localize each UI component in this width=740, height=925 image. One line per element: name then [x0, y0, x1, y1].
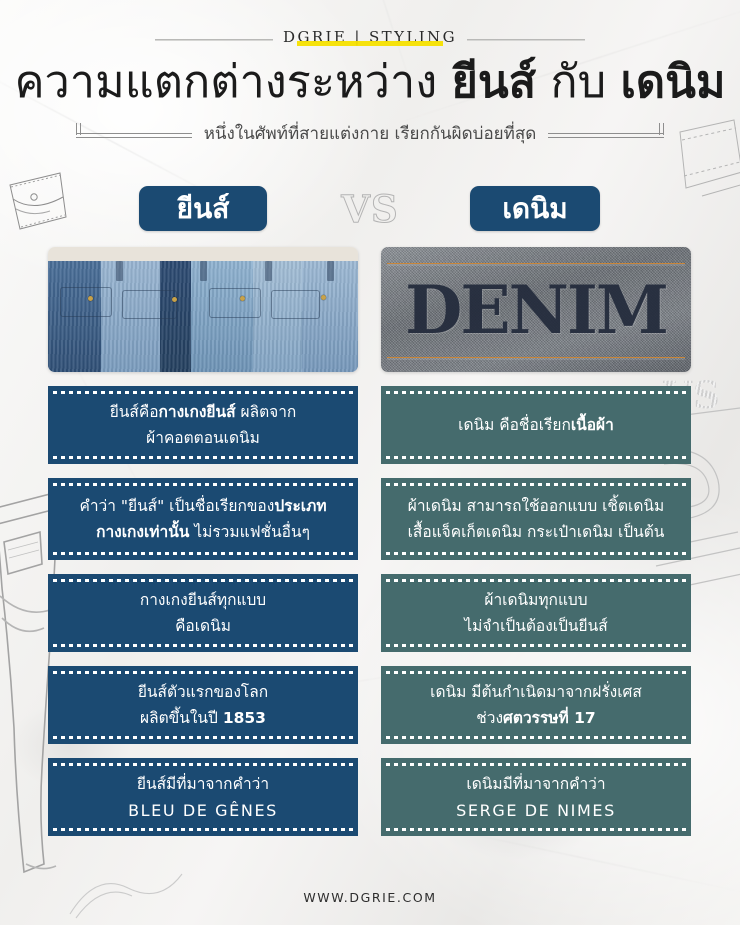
fact-card: เดนิม คือชื่อเรียกเนื้อผ้า — [381, 386, 691, 464]
fact-card: ผ้าเดนิมทุกแบบไม่จำเป็นต้องเป็นยีนส์ — [381, 574, 691, 652]
fact-card: ยีนส์คือกางเกงยีนส์ ผลิตจากผ้าคอตตอนเดนิ… — [48, 386, 358, 464]
fact-card: กางเกงยีนส์ทุกแบบคือเดนิม — [48, 574, 358, 652]
fact-text-part: ยีนส์มีที่มาจากคำว่า — [137, 775, 269, 793]
fact-text-emphasis: เนื้อผ้า — [571, 416, 614, 434]
fact-card: เดนิม มีต้นกำเนิดมาจากฝรั่งเศสช่วงศตวรรษ… — [381, 666, 691, 744]
versus-label-outline: VS — [322, 186, 418, 231]
denim-label-photo: DENIM — [381, 247, 691, 372]
fact-text-part: ช่วง — [476, 709, 503, 727]
subtitle: หนึ่งในศัพท์ที่สายแต่งกาย เรียกกันผิดบ่อ… — [192, 120, 549, 147]
fact-text-part: เดนิมมีที่มาจากคำว่า — [466, 775, 605, 793]
fact-card-text: กางเกงยีนส์ทุกแบบคือเดนิม — [140, 587, 266, 639]
fact-text-emphasis: กางเกงยีนส์ — [159, 403, 236, 421]
bracket-left — [76, 125, 192, 143]
title-prefix: ความแตกต่างระหว่าง — [14, 55, 451, 108]
fact-text-emphasis: กางเกงเท่านั้น — [96, 523, 189, 541]
fact-card-text: เดนิม มีต้นกำเนิดมาจากฝรั่งเศสช่วงศตวรรษ… — [430, 679, 642, 731]
fact-text-latin: SERGE DE NIMES — [456, 801, 616, 820]
marble-vein — [433, 826, 740, 896]
fact-card-text: เดนิมมีที่มาจากคำว่าSERGE DE NIMES — [456, 771, 616, 824]
fact-card-text: ยีนส์มีที่มาจากคำว่าBLEU DE GÊNES — [128, 771, 278, 824]
fact-card: ยีนส์มีที่มาจากคำว่าBLEU DE GÊNES — [48, 758, 358, 836]
fact-card: ผ้าเดนิม สามารถใช้ออกแบบ เชิ้ตเดนิมเสื้อ… — [381, 478, 691, 560]
denim-column: DENIM เดนิม คือชื่อเรียกเนื้อผ้า ผ้าเดนิ… — [381, 247, 691, 836]
fact-text-emphasis: ศตวรรษที่ 17 — [503, 709, 596, 727]
versus-badge: VS VS — [322, 186, 418, 231]
jeans-photo-art — [48, 247, 358, 372]
denim-label-text: DENIM — [381, 247, 691, 372]
fact-card: เดนิมมีที่มาจากคำว่าSERGE DE NIMES — [381, 758, 691, 836]
infographic-page: DGRIE | STYLING ความแตกต่างระหว่าง ยีนส์… — [0, 0, 740, 925]
fact-text-part: ผลิตขึ้นในปี — [140, 709, 223, 727]
fact-card-text: เดนิม คือชื่อเรียกเนื้อผ้า — [458, 412, 614, 438]
brand-rule-left — [155, 39, 273, 41]
fact-text-year: 1853 — [223, 709, 266, 727]
bracket-right — [548, 125, 664, 143]
fact-card-text: ผ้าเดนิมทุกแบบไม่จำเป็นต้องเป็นยีนส์ — [464, 587, 607, 639]
brand-rule-right — [467, 39, 585, 41]
fact-text-latin: BLEU DE GÊNES — [128, 801, 278, 820]
fact-text-part: ยีนส์คือ — [110, 403, 159, 421]
subtitle-row: หนึ่งในศัพท์ที่สายแต่งกาย เรียกกันผิดบ่อ… — [0, 120, 740, 147]
fact-text-part: ผลิตจาก — [236, 403, 297, 421]
fact-card: คำว่า "ยีนส์" เป็นชื่อเรียกของประเภทกางเ… — [48, 478, 358, 560]
fact-text-emphasis: ประเภท — [274, 497, 326, 515]
title-middle: กับ — [536, 55, 620, 108]
fact-text-line2: ผ้าคอตตอนเดนิม — [146, 429, 260, 447]
column-header-denim: เดนิม — [470, 186, 600, 231]
fact-text-part: ยีนส์ตัวแรกของโลก — [138, 683, 268, 701]
jeans-column: ยีนส์คือกางเกงยีนส์ ผลิตจากผ้าคอตตอนเดนิ… — [48, 247, 358, 836]
fact-text-part: คำว่า "ยีนส์" เป็นชื่อเรียกของ — [79, 497, 274, 515]
title-word-jeans: ยีนส์ — [452, 55, 537, 108]
brand-highlight — [297, 41, 443, 46]
fact-text-line2: เสื้อแจ็คเก็ตเดนิม กระเป๋าเดนิม เป็นต้น — [408, 523, 665, 541]
column-header-denim-label: เดนิม — [502, 192, 567, 226]
denim-label-art: DENIM — [381, 247, 691, 372]
fact-text-line2: ไม่จำเป็นต้องเป็นยีนส์ — [464, 617, 607, 635]
fact-text-part: ผ้าเดนิมทุกแบบ — [484, 591, 587, 609]
fact-text-part: เดนิม คือชื่อเรียก — [458, 416, 571, 434]
fact-card-text: ยีนส์คือกางเกงยีนส์ ผลิตจากผ้าคอตตอนเดนิ… — [110, 399, 297, 451]
column-header-jeans-label: ยีนส์ — [177, 192, 230, 226]
brand-header: DGRIE | STYLING — [0, 20, 740, 54]
jeans-photo — [48, 247, 358, 372]
jeans-pocket-sketch-icon — [4, 165, 70, 237]
fact-text-part: กางเกงยีนส์ทุกแบบ — [140, 591, 266, 609]
fact-text-part: ไม่รวมแฟชั่นอื่นๆ — [189, 523, 310, 541]
fact-text-part: เดนิม มีต้นกำเนิดมาจากฝรั่งเศส — [430, 683, 642, 701]
fact-card-text: ผ้าเดนิม สามารถใช้ออกแบบ เชิ้ตเดนิมเสื้อ… — [408, 493, 665, 545]
fact-card-text: คำว่า "ยีนส์" เป็นชื่อเรียกของประเภทกางเ… — [79, 493, 326, 545]
column-header-jeans: ยีนส์ — [139, 186, 267, 231]
page-title: ความแตกต่างระหว่าง ยีนส์ กับ เดนิม — [0, 54, 740, 110]
fact-text-line2: คือเดนิม — [175, 617, 231, 635]
fact-text-part: ผ้าเดนิม สามารถใช้ออกแบบ เชิ้ตเดนิม — [408, 497, 664, 515]
footer-url: WWW.DGRIE.COM — [0, 890, 740, 905]
title-word-denim: เดนิม — [621, 55, 726, 108]
fact-card-text: ยีนส์ตัวแรกของโลกผลิตขึ้นในปี 1853 — [138, 679, 268, 731]
brand-box: DGRIE | STYLING — [283, 28, 457, 46]
fact-card: ยีนส์ตัวแรกของโลกผลิตขึ้นในปี 1853 — [48, 666, 358, 744]
